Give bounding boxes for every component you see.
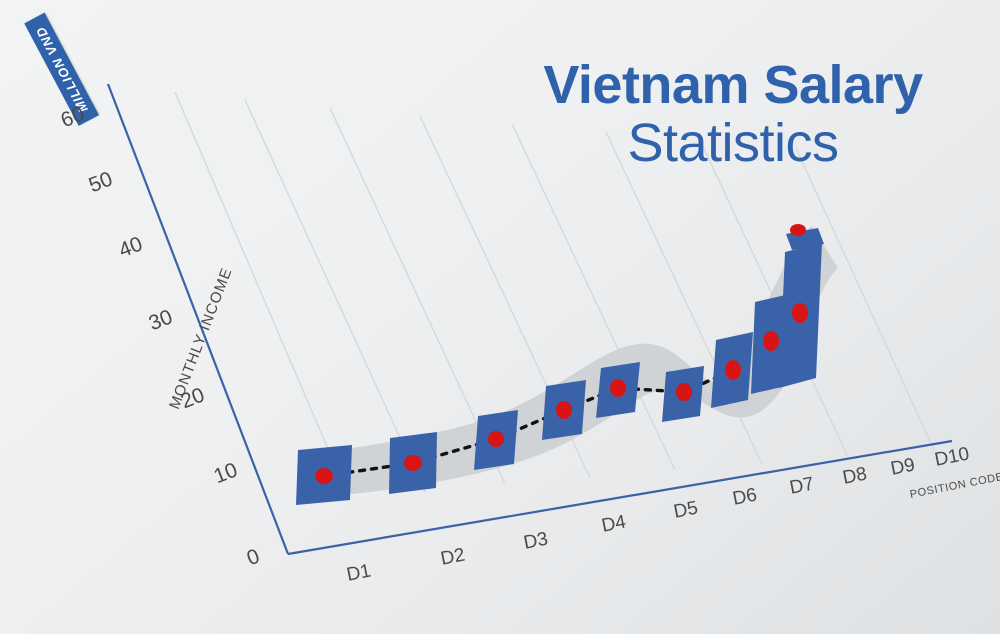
data-marker[interactable] xyxy=(662,366,704,422)
marker-point xyxy=(315,468,333,484)
marker-point xyxy=(792,303,808,323)
x-tick-label: D9 xyxy=(889,455,917,481)
marker-point xyxy=(725,360,741,380)
x-tick-label: D3 xyxy=(522,529,550,555)
data-marker[interactable] xyxy=(711,332,753,408)
x-tick-label: D1 xyxy=(345,561,373,587)
data-marker[interactable] xyxy=(596,362,640,418)
x-tick-label: D6 xyxy=(731,485,759,511)
marker-point xyxy=(556,401,572,419)
marker-point xyxy=(488,431,504,447)
chart-root: Vietnam Salary Statistics MILLION VND 60… xyxy=(0,0,1000,634)
marker-point xyxy=(790,224,806,236)
data-marker[interactable] xyxy=(779,243,822,388)
x-tick-label: D2 xyxy=(439,545,467,571)
x-tick-label: D4 xyxy=(600,512,628,538)
data-marker[interactable] xyxy=(296,445,352,505)
marker-point xyxy=(404,455,422,471)
x-tick-label: D8 xyxy=(841,464,869,490)
data-marker[interactable] xyxy=(542,380,586,440)
marker-point xyxy=(610,379,626,397)
marker-point xyxy=(763,331,779,351)
x-tick-label: D7 xyxy=(788,474,816,500)
marker-point xyxy=(676,383,692,401)
data-marker[interactable] xyxy=(474,410,518,470)
x-tick-label: D5 xyxy=(672,498,700,524)
data-marker[interactable] xyxy=(389,432,437,494)
